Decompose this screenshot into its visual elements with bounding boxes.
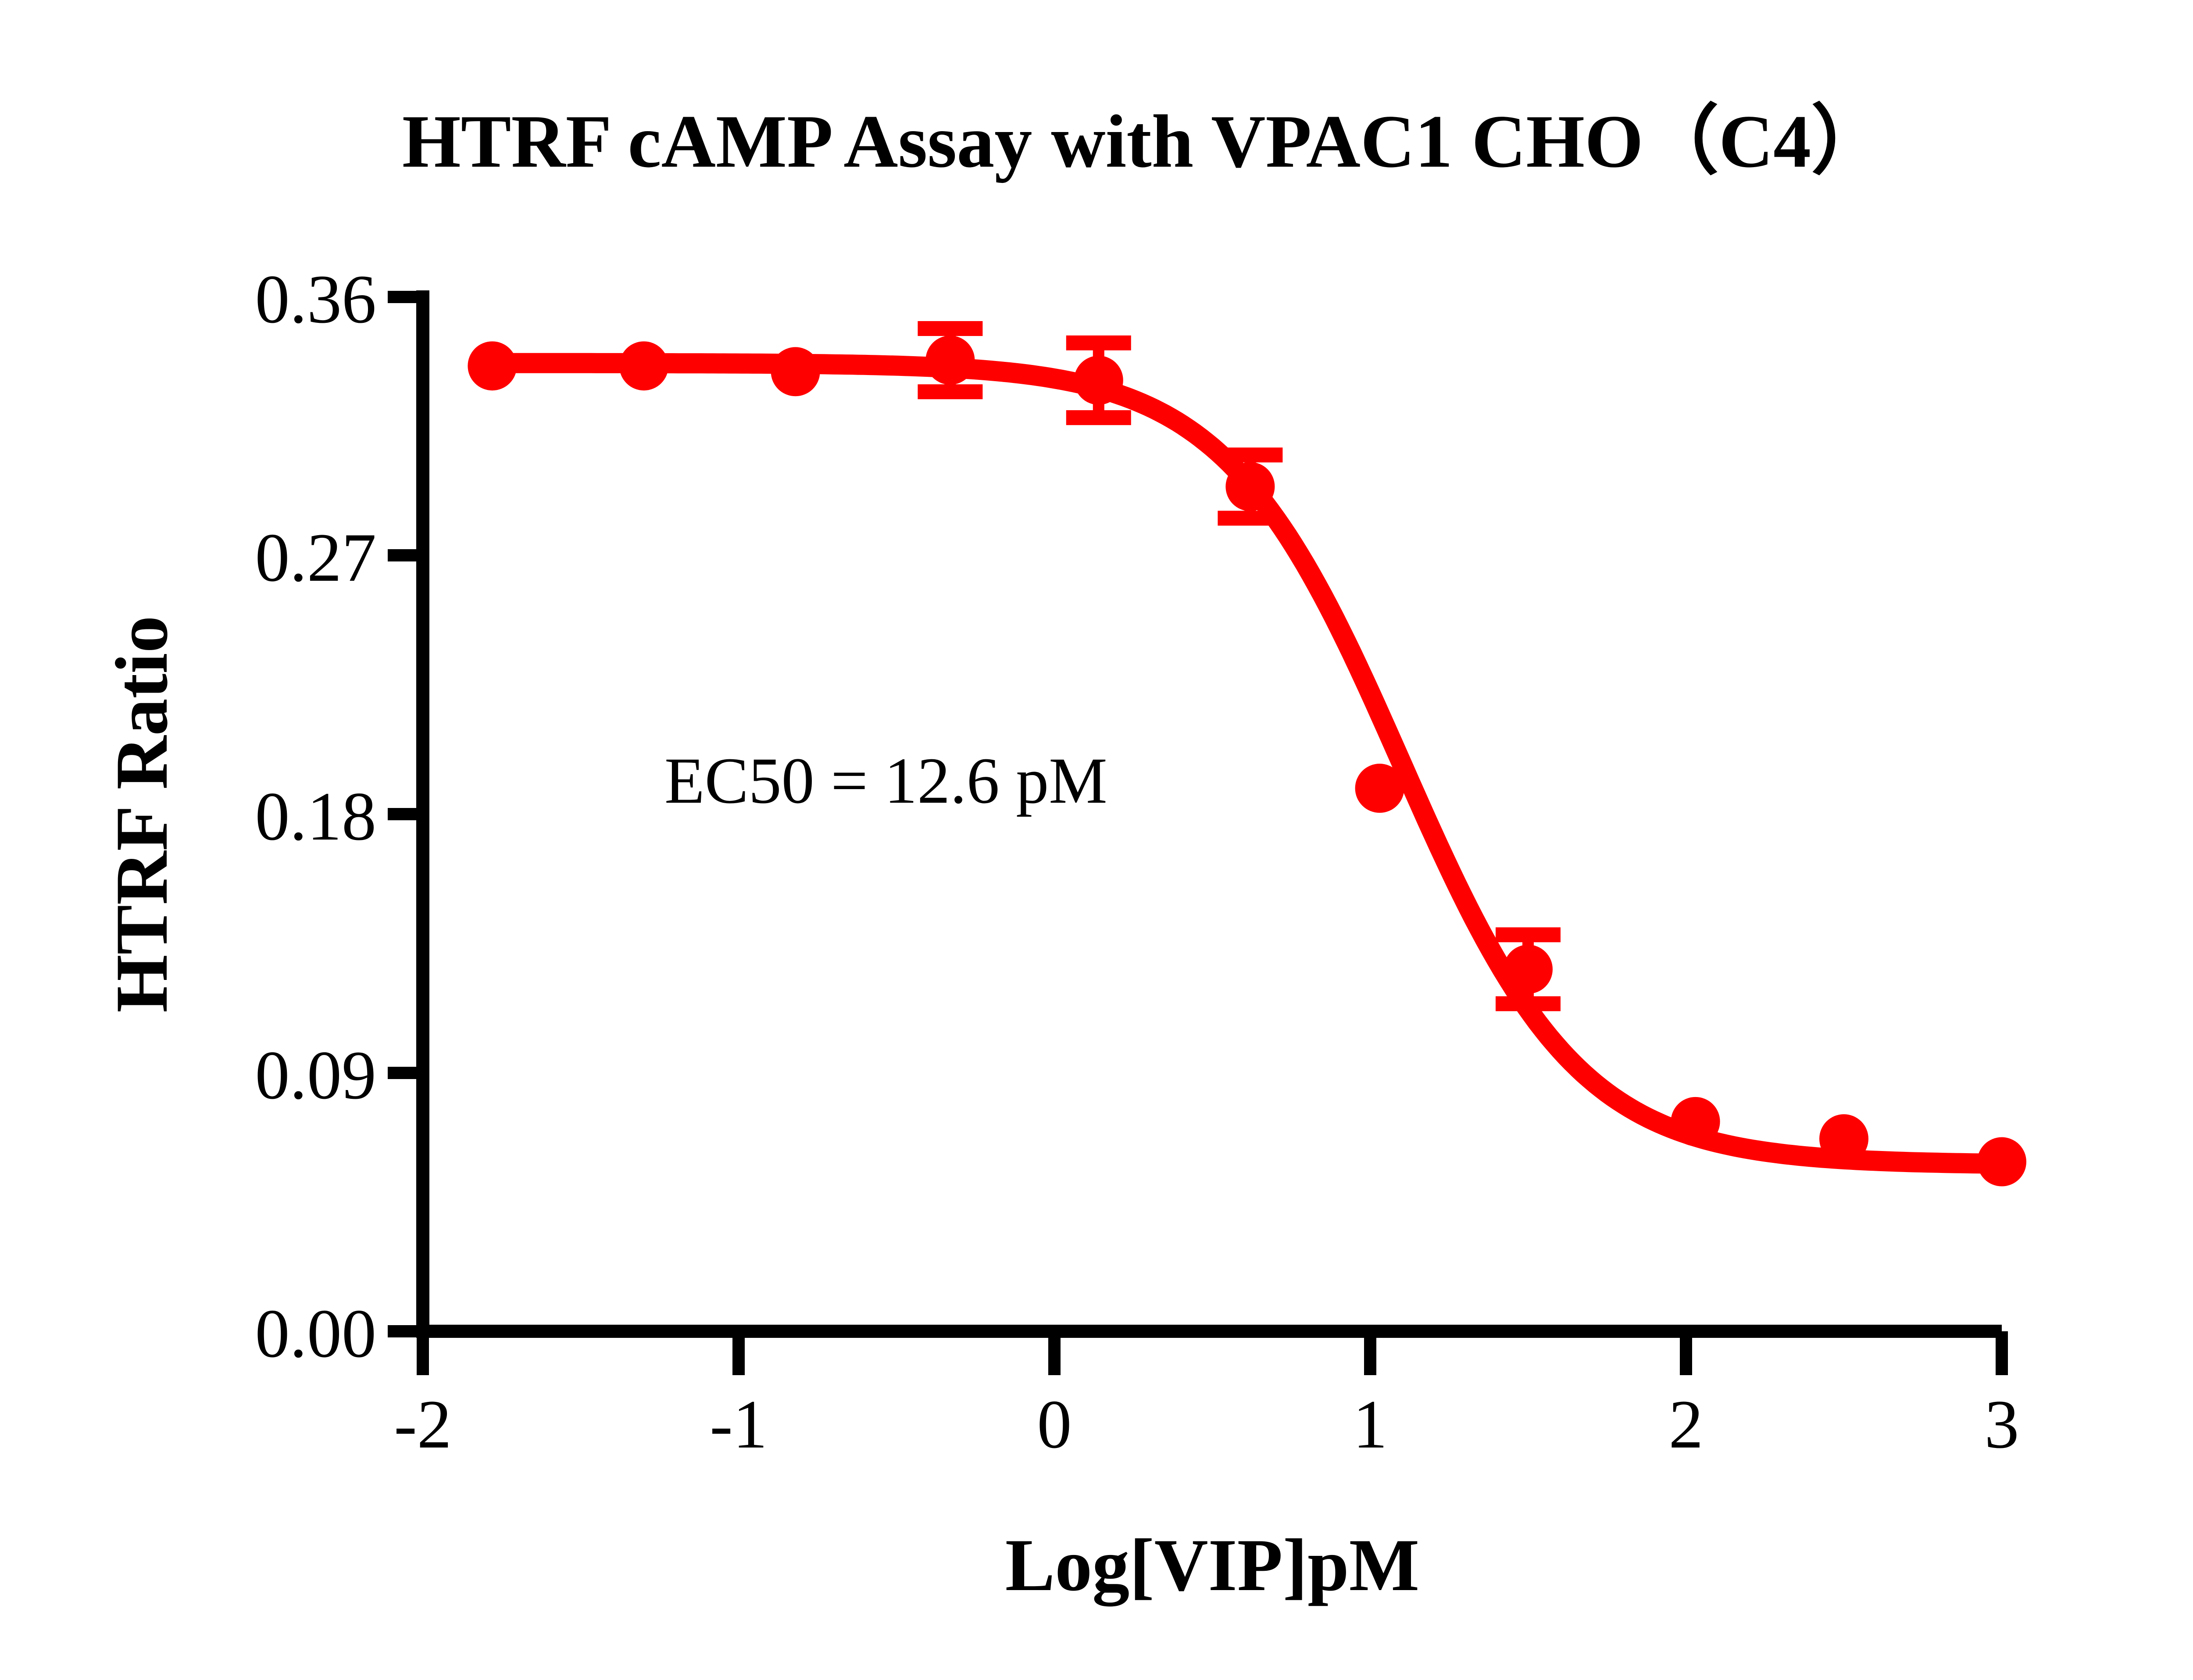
data-point-marker [468, 341, 517, 390]
y-axis-title: HTRF Ratio [100, 615, 183, 1012]
x-axis-title: Log[VIP]pM [1005, 1524, 1419, 1606]
x-tick-label-0: 0 [1037, 1386, 1072, 1463]
y-tick-label-009: 0.09 [255, 1037, 377, 1114]
chart-figure: HTRF cAMP Assay with VPAC1 CHO（C4） 0.36 … [0, 0, 2193, 1680]
y-tick-label-027: 0.27 [255, 519, 377, 596]
ec50-annotation: EC50 = 12.6 pM [664, 744, 1107, 817]
plot-area: 0.36 0.27 0.18 0.09 0.00 -2 -1 0 1 2 3 L… [0, 0, 2193, 1680]
x-axis-tick-labels: -2 -1 0 1 2 3 [394, 1386, 2019, 1463]
data-point-marker [1225, 462, 1275, 511]
y-axis-tick-labels: 0.36 0.27 0.18 0.09 0.00 [255, 261, 377, 1372]
data-point-marker [925, 336, 975, 385]
y-tick-label-000: 0.00 [255, 1295, 377, 1372]
data-point-marker [1504, 945, 1553, 994]
x-tick-label-neg1: -1 [710, 1386, 768, 1463]
data-point-marker [1355, 764, 1404, 813]
data-point-marker [1977, 1137, 2026, 1187]
data-point-marker [1074, 356, 1123, 405]
y-tick-label-018: 0.18 [255, 778, 377, 855]
data-point-marker [619, 341, 668, 390]
x-tick-label-3: 3 [1985, 1386, 2019, 1463]
data-point-marker [771, 347, 820, 396]
x-tick-label-1: 1 [1353, 1386, 1388, 1463]
x-tick-label-2: 2 [1669, 1386, 1704, 1463]
y-tick-label-036: 0.36 [255, 261, 377, 338]
x-tick-label-neg2: -2 [394, 1386, 452, 1463]
data-point-marker [1819, 1114, 1868, 1163]
data-point-marker [1671, 1097, 1720, 1146]
